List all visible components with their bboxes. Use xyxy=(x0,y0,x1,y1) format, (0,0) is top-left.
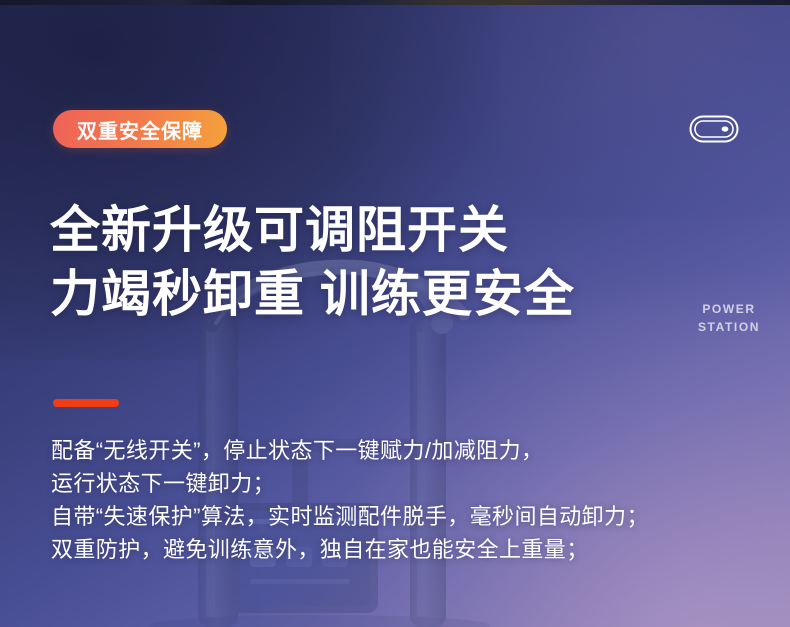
feature-line-1: 配备“无线开关”，停止状态下一键赋力/加减阻力， xyxy=(51,434,649,467)
power-station-wordmark: POWER STATION xyxy=(683,300,775,336)
feature-line-2: 运行状态下一键卸力； xyxy=(51,467,649,500)
section-divider xyxy=(53,399,119,407)
promo-banner: 双重安全保障 全新升级可调阻开关 力竭秒卸重 训练更安全 POWER STATI… xyxy=(0,0,790,627)
feature-line-4: 双重防护，避免训练意外，独自在家也能安全上重量； xyxy=(51,533,649,566)
power-station-line-2: STATION xyxy=(683,318,775,336)
feature-line-3: 自带“失速保护”算法，实时监测配件脱手，毫秒间自动卸力； xyxy=(51,500,649,533)
safety-badge-label: 双重安全保障 xyxy=(77,115,203,144)
safety-badge: 双重安全保障 xyxy=(53,110,227,148)
toggle-switch-icon[interactable] xyxy=(689,115,739,143)
power-station-line-1: POWER xyxy=(683,300,775,318)
headline-line-2: 力竭秒卸重 训练更安全 xyxy=(50,262,575,326)
page-title: 全新升级可调阻开关 力竭秒卸重 训练更安全 xyxy=(50,198,575,326)
headline-line-1: 全新升级可调阻开关 xyxy=(50,198,575,262)
feature-description: 配备“无线开关”，停止状态下一键赋力/加减阻力， 运行状态下一键卸力； 自带“失… xyxy=(51,434,649,566)
